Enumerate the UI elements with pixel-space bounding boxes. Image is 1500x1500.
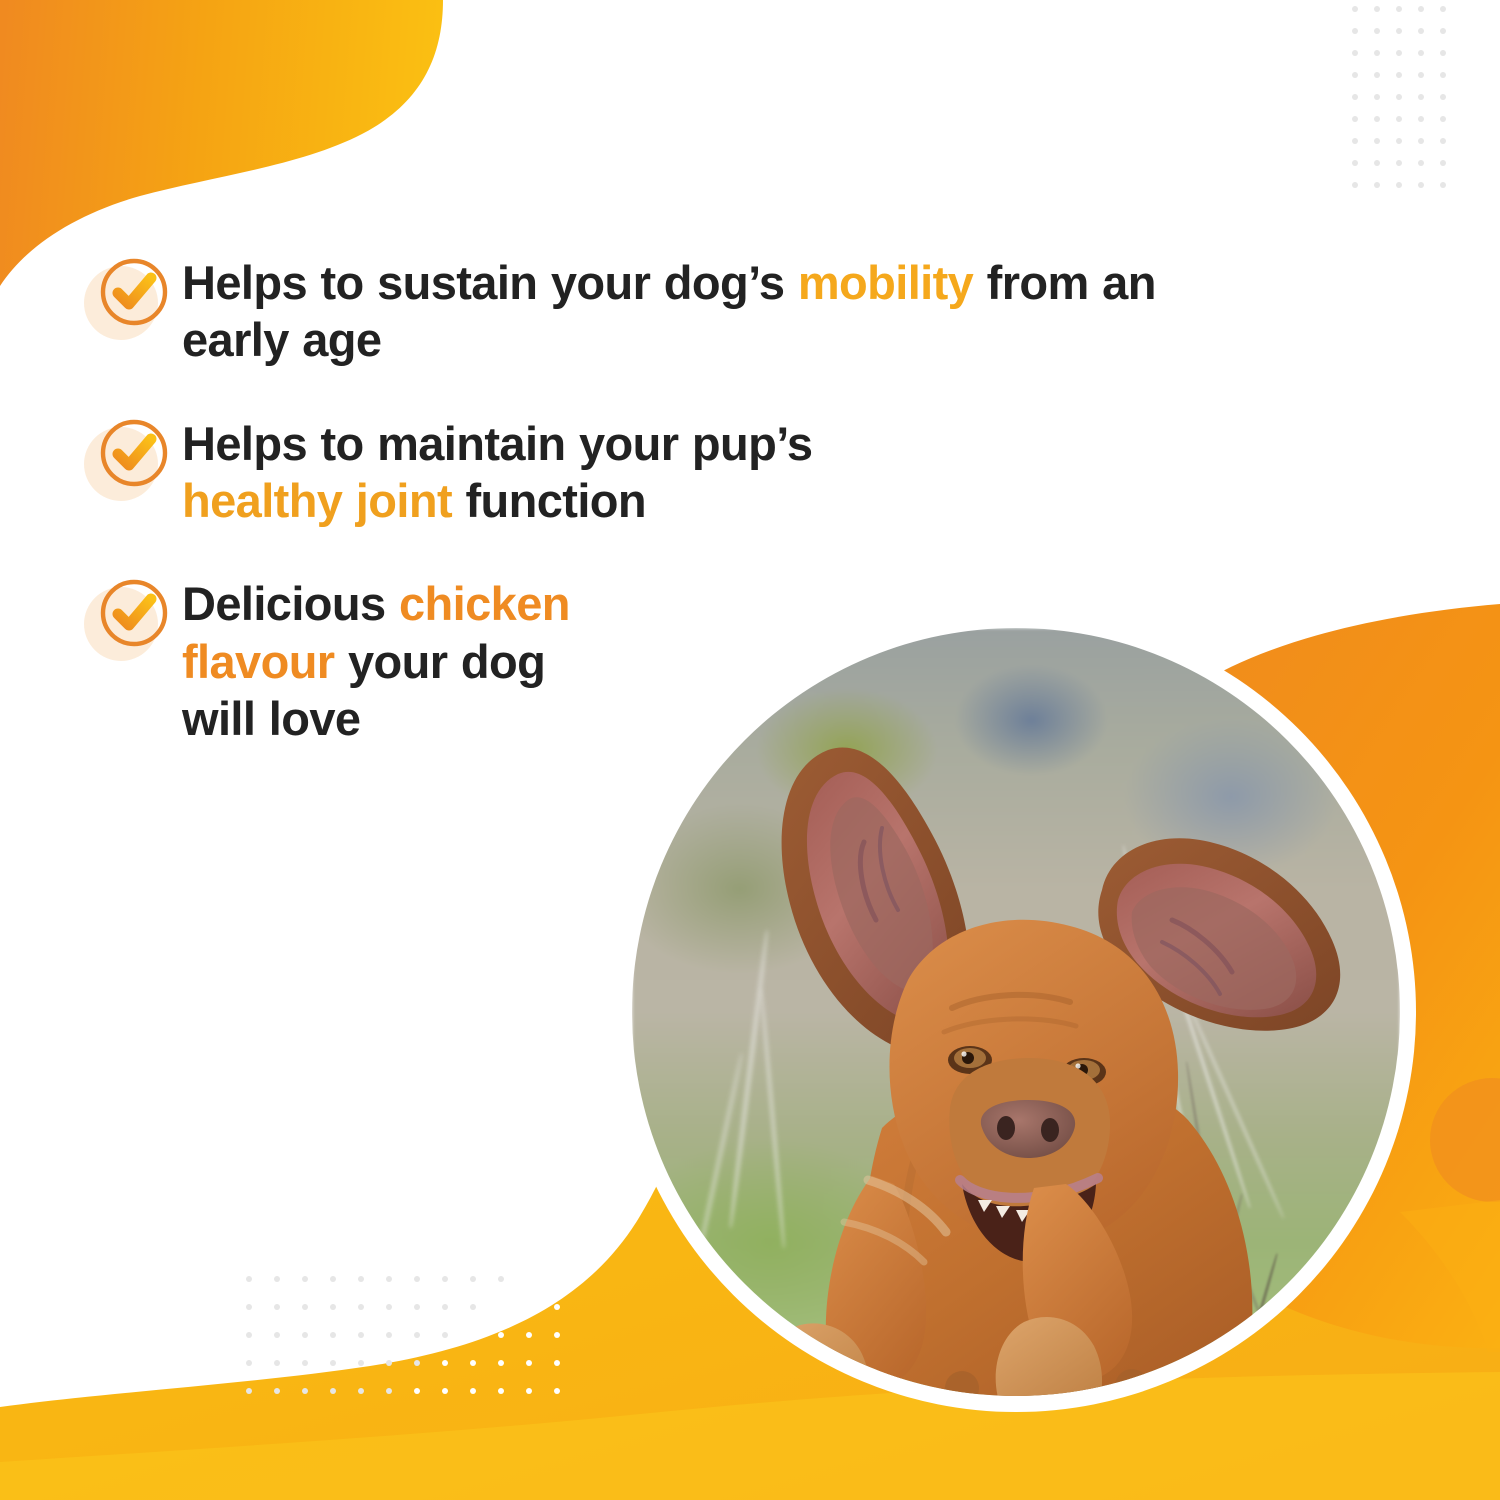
benefit-list: Helps to sustain your dog’s mobility fro… bbox=[82, 252, 1202, 787]
decor-dot bbox=[1418, 116, 1424, 122]
decor-dot bbox=[1352, 72, 1358, 78]
decor-dot bbox=[1440, 160, 1446, 166]
decor-dot bbox=[1374, 6, 1380, 12]
decor-dot bbox=[358, 1304, 364, 1310]
decor-dot bbox=[470, 1388, 476, 1394]
decor-dot bbox=[386, 1332, 392, 1338]
decor-dot bbox=[1396, 182, 1402, 188]
orange-blob-accent bbox=[1430, 1078, 1500, 1202]
check-circle-icon bbox=[82, 252, 182, 344]
decor-dot bbox=[414, 1388, 420, 1394]
decor-dot bbox=[498, 1276, 504, 1282]
decor-dot bbox=[1374, 138, 1380, 144]
decor-dot bbox=[386, 1276, 392, 1282]
decor-dot bbox=[358, 1276, 364, 1282]
decor-dot bbox=[1418, 6, 1424, 12]
check-ring-icon bbox=[98, 577, 170, 649]
benefit-item: Helps to maintain your pup’s healthy joi… bbox=[82, 413, 1202, 530]
decor-dot bbox=[442, 1388, 448, 1394]
decor-dot bbox=[246, 1360, 252, 1366]
decor-dot bbox=[1440, 28, 1446, 34]
check-ring-icon bbox=[98, 256, 170, 328]
dot-grid-top-right bbox=[1352, 6, 1472, 216]
decor-dot bbox=[414, 1304, 420, 1310]
decor-dot bbox=[246, 1332, 252, 1338]
orange-right-lower-curve bbox=[1400, 1200, 1500, 1352]
decor-dot bbox=[246, 1304, 252, 1310]
decor-dot bbox=[386, 1388, 392, 1394]
decor-dot bbox=[1396, 160, 1402, 166]
decor-dot bbox=[302, 1388, 308, 1394]
decor-dot bbox=[330, 1276, 336, 1282]
decor-dot bbox=[1352, 182, 1358, 188]
decor-dot bbox=[386, 1360, 392, 1366]
decor-dot bbox=[330, 1332, 336, 1338]
decor-dot bbox=[274, 1304, 280, 1310]
decor-dot bbox=[498, 1360, 504, 1366]
check-circle-icon bbox=[82, 413, 182, 505]
decor-dot bbox=[526, 1360, 532, 1366]
decor-dot bbox=[1396, 94, 1402, 100]
decor-dot bbox=[1352, 94, 1358, 100]
decor-dot bbox=[1418, 94, 1424, 100]
decor-dot bbox=[1418, 138, 1424, 144]
decor-dot bbox=[1374, 50, 1380, 56]
decor-dot bbox=[498, 1388, 504, 1394]
decor-dot bbox=[526, 1388, 532, 1394]
decor-dot bbox=[302, 1304, 308, 1310]
decor-dot bbox=[1396, 116, 1402, 122]
decor-dot bbox=[470, 1304, 476, 1310]
product-benefits-banner: Helps to sustain your dog’s mobility fro… bbox=[0, 0, 1500, 1500]
decor-dot bbox=[1440, 116, 1446, 122]
decor-dot bbox=[1352, 6, 1358, 12]
check-ring-icon bbox=[98, 417, 170, 489]
decor-dot bbox=[526, 1304, 532, 1310]
benefit-segment-plain: Helps to sustain your dog’s bbox=[182, 256, 798, 309]
decor-dot bbox=[1374, 28, 1380, 34]
decor-dot bbox=[1396, 72, 1402, 78]
decor-dot bbox=[1352, 116, 1358, 122]
decor-dot bbox=[358, 1332, 364, 1338]
decor-dot bbox=[1418, 28, 1424, 34]
decor-dot bbox=[554, 1276, 560, 1282]
decor-dot bbox=[358, 1388, 364, 1394]
dot-grid-bottom-left bbox=[246, 1276, 606, 1416]
decor-dot bbox=[470, 1360, 476, 1366]
decor-dot bbox=[1440, 94, 1446, 100]
decor-dot bbox=[274, 1360, 280, 1366]
decor-dot bbox=[1440, 72, 1446, 78]
decor-dot bbox=[1440, 50, 1446, 56]
decor-dot bbox=[1440, 182, 1446, 188]
decor-dot bbox=[302, 1276, 308, 1282]
decor-dot bbox=[442, 1332, 448, 1338]
decor-dot bbox=[470, 1276, 476, 1282]
decor-dot bbox=[1352, 138, 1358, 144]
decor-dot bbox=[554, 1304, 560, 1310]
benefit-segment-highlight: healthy joint bbox=[182, 474, 452, 527]
decor-dot bbox=[442, 1304, 448, 1310]
decor-dot bbox=[386, 1304, 392, 1310]
decor-dot bbox=[1396, 138, 1402, 144]
decor-dot bbox=[1374, 160, 1380, 166]
decor-dot bbox=[330, 1388, 336, 1394]
decor-dot bbox=[442, 1276, 448, 1282]
decor-dot bbox=[274, 1388, 280, 1394]
benefit-item: Delicious chicken flavour your dog will … bbox=[82, 573, 1202, 747]
decor-dot bbox=[526, 1276, 532, 1282]
decor-dot bbox=[330, 1360, 336, 1366]
decor-dot bbox=[1352, 50, 1358, 56]
decor-dot bbox=[1396, 28, 1402, 34]
decor-dot bbox=[1352, 28, 1358, 34]
benefit-segment-plain: function bbox=[452, 474, 646, 527]
benefit-item: Helps to sustain your dog’s mobility fro… bbox=[82, 252, 1202, 369]
benefit-segment-plain: Delicious bbox=[182, 577, 399, 630]
decor-dot bbox=[1352, 160, 1358, 166]
decor-dot bbox=[1440, 6, 1446, 12]
decor-dot bbox=[470, 1332, 476, 1338]
decor-dot bbox=[1418, 160, 1424, 166]
decor-dot bbox=[554, 1332, 560, 1338]
decor-dot bbox=[442, 1360, 448, 1366]
decor-dot bbox=[302, 1360, 308, 1366]
decor-dot bbox=[246, 1276, 252, 1282]
benefit-text: Helps to sustain your dog’s mobility fro… bbox=[182, 252, 1202, 369]
decor-dot bbox=[274, 1332, 280, 1338]
decor-dot bbox=[1396, 6, 1402, 12]
decor-dot bbox=[1440, 138, 1446, 144]
check-circle-icon bbox=[82, 573, 182, 665]
decor-dot bbox=[302, 1332, 308, 1338]
decor-dot bbox=[358, 1360, 364, 1366]
decor-dot bbox=[498, 1332, 504, 1338]
decor-dot bbox=[1418, 50, 1424, 56]
decor-dot bbox=[554, 1360, 560, 1366]
orange-wave-top-left bbox=[0, 0, 443, 286]
benefit-segment-plain: Helps to maintain your pup’s bbox=[182, 417, 812, 470]
benefit-text: Delicious chicken flavour your dog will … bbox=[182, 573, 612, 747]
decor-dot bbox=[554, 1388, 560, 1394]
benefit-segment-highlight: mobility bbox=[798, 256, 973, 309]
decor-dot bbox=[1374, 72, 1380, 78]
decor-dot bbox=[1396, 50, 1402, 56]
benefit-text: Helps to maintain your pup’s healthy joi… bbox=[182, 413, 982, 530]
decor-dot bbox=[526, 1332, 532, 1338]
decor-dot bbox=[414, 1360, 420, 1366]
decor-dot bbox=[1374, 182, 1380, 188]
decor-dot bbox=[498, 1304, 504, 1310]
decor-dot bbox=[274, 1276, 280, 1282]
decor-dot bbox=[1374, 94, 1380, 100]
decor-dot bbox=[1374, 116, 1380, 122]
decor-dot bbox=[330, 1304, 336, 1310]
decor-dot bbox=[1418, 182, 1424, 188]
decor-dot bbox=[246, 1388, 252, 1394]
decor-dot bbox=[414, 1332, 420, 1338]
decor-dot bbox=[414, 1276, 420, 1282]
decor-dot bbox=[1418, 72, 1424, 78]
